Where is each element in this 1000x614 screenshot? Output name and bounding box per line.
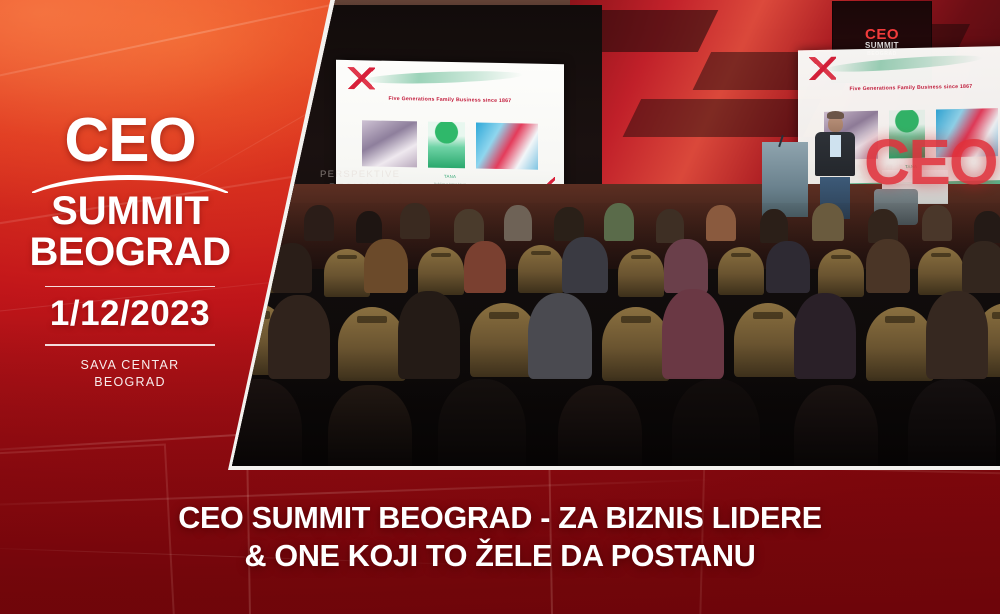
audience-chair xyxy=(518,245,564,293)
audience-chair xyxy=(718,247,764,295)
audience-person xyxy=(554,207,584,241)
slide-logo-icon xyxy=(347,67,374,89)
audience-person xyxy=(604,203,634,241)
logo-beograd-text: BEOGRAD xyxy=(28,232,232,273)
logo-divider-bottom xyxy=(45,344,215,346)
conference-photo: CEO SUMMIT BEOGRAD Five Generations Fami… xyxy=(232,0,1000,466)
promo-banner: CEO SUMMIT BEOGRAD Five Generations Fami… xyxy=(0,0,1000,614)
event-logo-block: CEO SUMMIT BEOGRAD 1/12/2023 SAVA CENTAR… xyxy=(28,112,232,391)
audience-chair xyxy=(734,303,802,377)
slide-logo-icon-right xyxy=(809,56,836,79)
audience-person xyxy=(664,239,708,293)
audience-person xyxy=(268,295,330,379)
audience-person xyxy=(504,205,532,241)
audience-person xyxy=(364,239,408,293)
speaker-hair xyxy=(827,111,844,119)
wall-text-left-line1: PERSPEKTIVE xyxy=(320,168,421,182)
slide-images-left xyxy=(359,120,541,170)
slide-title-left: Five Generations Family Business since 1… xyxy=(354,95,546,105)
slide-image-truck xyxy=(476,122,538,170)
audience-person xyxy=(656,209,684,243)
audience-chair xyxy=(618,249,664,297)
audience-person xyxy=(454,209,484,243)
photo-bottom-fade xyxy=(232,376,1000,466)
headline-line-1: CEO SUMMIT BEOGRAD - ZA BIZNIS LIDERE xyxy=(178,500,822,538)
headline-band: CEO SUMMIT BEOGRAD - ZA BIZNIS LIDERE & … xyxy=(0,462,1000,614)
audience-person xyxy=(398,291,460,379)
audience-person xyxy=(400,203,430,239)
headline-line-2: & ONE KOJI TO ŽELE DA POSTANU xyxy=(245,538,756,576)
logo-swoosh-arc xyxy=(32,171,228,193)
audience-person xyxy=(974,211,1000,243)
slide-swoosh-graphic-right xyxy=(825,52,984,75)
slide-image-building xyxy=(362,120,417,167)
event-date: 1/12/2023 xyxy=(28,296,232,331)
event-venue-line1: SAVA CENTAR xyxy=(28,357,232,374)
audience-person xyxy=(866,239,910,293)
slide-swoosh-graphic xyxy=(363,69,523,85)
audience-chair xyxy=(602,307,670,381)
audience-chair xyxy=(418,247,464,295)
audience-person xyxy=(356,211,382,243)
audience-person xyxy=(766,241,810,293)
speaker-shirt xyxy=(830,135,841,157)
audience-person xyxy=(706,205,736,241)
audience-person xyxy=(794,293,856,379)
audience-person xyxy=(760,209,788,243)
audience-chair xyxy=(918,247,964,295)
backdrop-sign-ceo: CEO xyxy=(865,27,899,42)
audience-person xyxy=(962,241,1000,293)
logo-divider-top xyxy=(45,286,215,288)
audience-person xyxy=(868,209,898,243)
logo-summit-text: SUMMIT xyxy=(28,191,232,232)
event-venue-line2: BEOGRAD xyxy=(28,374,232,391)
audience-chair xyxy=(866,307,934,381)
audience-person xyxy=(922,205,952,241)
audience-person xyxy=(662,289,724,379)
audience-person xyxy=(464,241,506,293)
audience-person xyxy=(812,203,844,241)
event-venue: SAVA CENTAR BEOGRAD xyxy=(28,357,232,391)
slide-image-bottle xyxy=(428,121,464,168)
slide-title-right: Five Generations Family Business since 1… xyxy=(816,82,1000,92)
backdrop-chevron-3 xyxy=(623,99,821,137)
audience-chair xyxy=(338,307,406,381)
audience-person xyxy=(926,291,988,379)
stage-ceo-letters: CEO xyxy=(864,130,997,194)
audience-chair xyxy=(818,249,864,297)
logo-ceo-text: CEO xyxy=(28,112,232,169)
audience-person xyxy=(528,293,592,379)
audience-person xyxy=(304,205,334,241)
audience-person xyxy=(562,237,608,293)
